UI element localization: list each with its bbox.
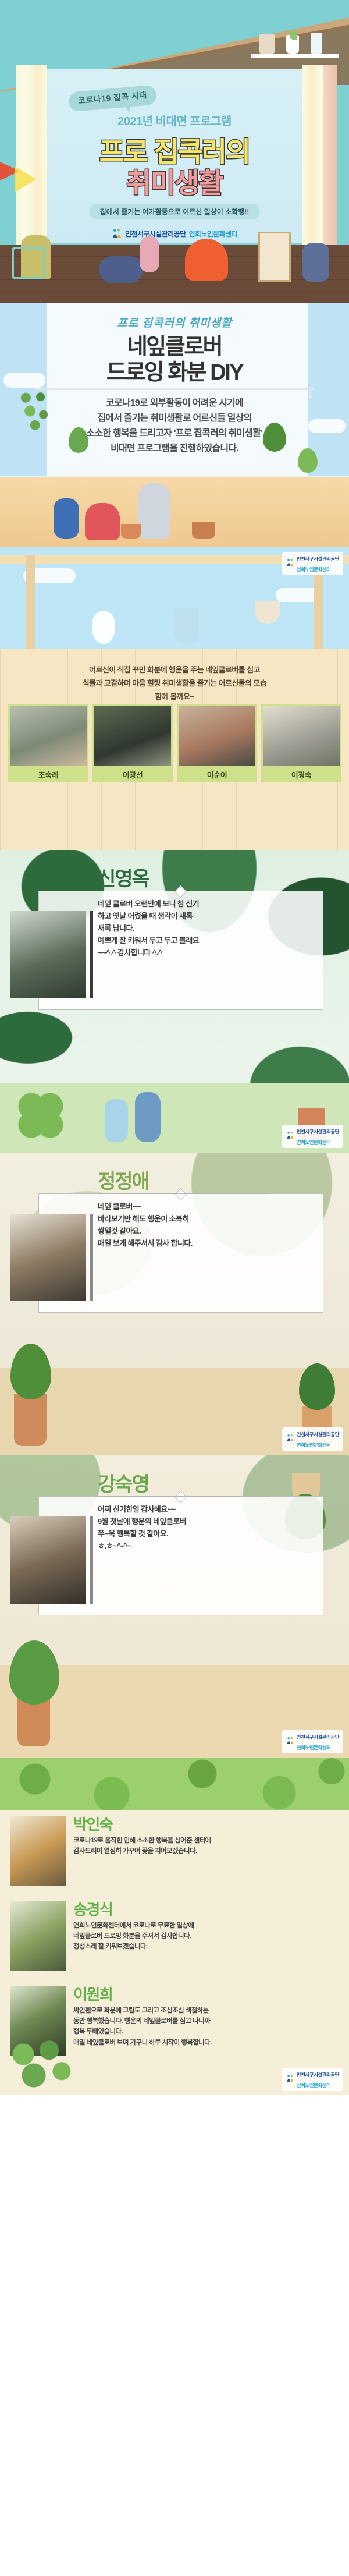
shelf-vase [311, 33, 322, 54]
org-name-primary: 인천서구시설관리공단 [297, 2072, 339, 2078]
org-name-primary: 인천서구시설관리공단 [297, 1129, 339, 1135]
section-org-badge: 인천서구시설관리공단 연희노인문화센터 [282, 552, 343, 575]
shelf-leaf [290, 30, 297, 40]
org-name-secondary: 연희노인문화센터 [297, 2082, 331, 2088]
testimonial-name: 박인숙 [73, 1816, 339, 1833]
testimonial-item[interactable]: 박인숙 코로나19로 움직힌 인해 소소한 행복을 심어준 센터에 감사드리며 … [10, 1816, 339, 1886]
org-name-secondary: 연희노인문화센터 [188, 229, 237, 239]
profile-name: 강숙영 [98, 1468, 149, 1497]
people-logo-icon [286, 1131, 294, 1142]
org-name-primary: 인천서구시설관리공단 [297, 1734, 339, 1740]
profile-name: 신영옥 [98, 863, 149, 891]
gallery-card[interactable]: 이경숙 [261, 704, 341, 782]
shelf-post-left [26, 555, 35, 651]
photo-accent-bar [90, 911, 93, 998]
testimonial-body: 이원희 싸인펜으로 화분에 그림도 그리고 조심조심 색칠하는 동안 행복했습니… [73, 1986, 339, 2048]
flower-pot [192, 522, 215, 539]
testimonial-name: 이원희 [73, 1986, 339, 2003]
photo-accent-bar [90, 1214, 93, 1301]
gallery-person-name: 이광선 [92, 767, 173, 782]
potted-palm-icon [14, 1394, 47, 1446]
glass-vase [92, 611, 115, 644]
testimonial-text: 코로나19로 움직힌 인해 소소한 행복을 심어준 센터에 감사드리며 열심히 … [73, 1836, 339, 1857]
gallery-person-name: 이순이 [177, 767, 257, 782]
section-org-badge: 인천서구시설관리공단 연희노인문화센터 [282, 1125, 343, 1148]
testimonial-text: 싸인펜으로 화분에 그림도 그리고 조심조심 색칠하는 동안 행복했습니다. 행… [73, 2005, 339, 2049]
gallery-card[interactable]: 이순이 [177, 704, 257, 782]
intro-divider [35, 388, 314, 390]
person-adult-icon [135, 1092, 161, 1142]
gallery-photo[interactable] [261, 704, 341, 767]
person-kneeling [85, 503, 120, 540]
person-pouring [138, 483, 170, 539]
person-sitting-pink [140, 236, 159, 272]
gallery-card[interactable]: 조숙례 [8, 704, 88, 782]
person-planting [54, 498, 79, 539]
intro-body-text: 코로나19로 외부활동이 어려운 시기에 집에서 즐기는 취미생활로 어르신들 … [0, 396, 349, 456]
wall-shelf [251, 54, 339, 58]
profile-section-1: 신영옥 네잎 클로버 오랜만에 보니 참 신기 하고 옛날 어렸을 때 생각이 … [0, 850, 349, 1153]
ground-floor [0, 477, 349, 547]
testimonial-photo[interactable] [10, 1816, 66, 1886]
profile-name-divider [98, 1193, 270, 1194]
testimonial-photo[interactable] [10, 1901, 66, 1971]
flower-pot [121, 524, 141, 539]
testimonials-section: 박인숙 코로나19로 움직힌 인해 소소한 행복을 심어준 센터에 감사드리며 … [0, 1758, 349, 2095]
org-name-secondary: 연희노인문화센터 [297, 566, 331, 572]
hanging-plant [69, 427, 88, 453]
hanging-plant [298, 448, 318, 473]
org-name-secondary: 연희노인문화센터 [297, 1442, 331, 1448]
testimonial-name: 송경식 [73, 1901, 339, 1918]
potted-tree-icon [17, 1698, 50, 1746]
gallery-card[interactable]: 이광선 [92, 704, 173, 782]
profile-name-divider [98, 891, 270, 891]
cover-org-logo: 인천서구시설관리공단 연희노인문화센터 [112, 228, 237, 239]
org-name-primary: 인천서구시설관리공단 [125, 229, 186, 239]
megaphone-beam [15, 166, 36, 192]
section-org-badge: 인천서구시설관리공단 연희노인문화센터 [282, 2068, 343, 2091]
gallery-photo-grid: 조숙례 이광선 이순이 이경숙 [8, 704, 341, 782]
water-plant-jar [174, 608, 199, 644]
gallery-section: 어르신이 직접 꾸민 화분에 행운을 주는 네잎클로버를 심고 식물과 교감하며… [0, 547, 349, 850]
person-painter [302, 243, 329, 282]
intro-title-line2: 드로잉 화분 DIY [0, 354, 349, 386]
intro-section: 프로 집콕러의 취미생활 네잎클로버 드로잉 화분 DIY 코로나19로 외부활… [0, 303, 349, 547]
photo-accent-bar [90, 1516, 93, 1604]
profile-name: 정정애 [98, 1165, 149, 1194]
person-sitting-blue [99, 256, 143, 283]
org-name-primary: 인천서구시설관리공단 [297, 556, 339, 562]
profile-photo[interactable] [10, 1214, 86, 1301]
shelf-frame [259, 34, 275, 54]
testimonial-body: 송경식 연희노인문화센터에서 코로나로 무료한 일상에 네잎클로버 드로잉 화분… [73, 1901, 339, 1953]
gallery-person-name: 이경숙 [261, 767, 341, 782]
profile-quote: 네잎 클로버~~ 바라보기만 해도 행운이 소복히 쌓일것 같아요. 매일 보게… [98, 1200, 272, 1249]
people-logo-icon [112, 228, 122, 239]
cover-section: 코로나19 집콕 시대 2021년 비대면 프로그램 프로 집콕러의 취미생활 … [0, 0, 349, 303]
testimonial-item[interactable]: 송경식 연희노인문화센터에서 코로나로 무료한 일상에 네잎클로버 드로잉 화분… [10, 1901, 339, 1971]
section-org-badge: 인천서구시설관리공단 연희노인문화센터 [282, 1427, 343, 1451]
testimonial-text: 연희노인문화센터에서 코로나로 무료한 일상에 네잎클로버 드로잉 화분을 주셔… [73, 1921, 339, 1953]
org-name-secondary: 연희노인문화센터 [297, 1139, 331, 1145]
profile-quote: 네잎 클로버 오랜만에 보니 참 신기 하고 옛날 어렸을 때 생각이 새록 새… [98, 898, 272, 959]
testimonial-body: 박인숙 코로나19로 움직힌 인해 소소한 행복을 심어준 센터에 감사드리며 … [73, 1816, 339, 1856]
clover-field-decor-icon [6, 2039, 76, 2091]
gallery-person-name: 조숙례 [8, 767, 88, 782]
people-logo-icon [286, 1737, 294, 1748]
person-chair [12, 247, 45, 279]
intro-handwritten-line: 프로 집콕러의 취미생활 [0, 314, 349, 330]
cover-title-line2: 취미생활 [0, 161, 349, 201]
person-orange-dress [185, 239, 228, 281]
profile-quote: 어찌 신기한일 감사해요~~ 9월 첫날에 행운의 네잎클로버 쭈~욱 행복할 … [98, 1503, 272, 1552]
card-news-page: 코로나19 집콕 시대 2021년 비대면 프로그램 프로 집콕러의 취미생활 … [0, 0, 349, 2095]
org-name-primary: 인천서구시설관리공단 [297, 1431, 339, 1437]
cover-tagline: 집에서 즐기는 여가활동으로 어르신 일상이 소확행!! [90, 204, 260, 219]
people-logo-icon [286, 1434, 294, 1445]
clover-decor-icon [17, 1092, 64, 1139]
org-name-secondary: 연희노인문화센터 [297, 1745, 331, 1751]
hanging-basket [255, 601, 280, 624]
profile-section-2: 정정애 네잎 클로버~~ 바라보기만 해도 행운이 소복히 쌓일것 같아요. 매… [0, 1153, 349, 1455]
gallery-photo[interactable] [177, 704, 257, 767]
gallery-photo[interactable] [8, 704, 88, 767]
profile-photo[interactable] [10, 911, 86, 998]
profile-section-3: 강숙영 어찌 신기한일 감사해요~~ 9월 첫날에 행운의 네잎클로버 쭈~욱 … [0, 1455, 349, 1758]
profile-name-divider [98, 1496, 270, 1497]
people-logo-icon [286, 2074, 294, 2085]
profile-photo[interactable] [10, 1516, 86, 1604]
people-logo-icon [286, 558, 294, 569]
section-org-badge: 인천서구시설관리공단 연희노인문화센터 [282, 1730, 343, 1753]
cover-program-line: 2021년 비대면 프로그램 [0, 112, 349, 129]
easel-icon [258, 232, 291, 282]
gallery-caption: 어르신이 직접 꾸민 화분에 행운을 주는 네잎클로버를 심고 식물과 교감하며… [0, 664, 349, 703]
person-child-icon [105, 1099, 128, 1142]
wooden-floor [0, 245, 349, 303]
gallery-photo[interactable] [92, 704, 173, 767]
